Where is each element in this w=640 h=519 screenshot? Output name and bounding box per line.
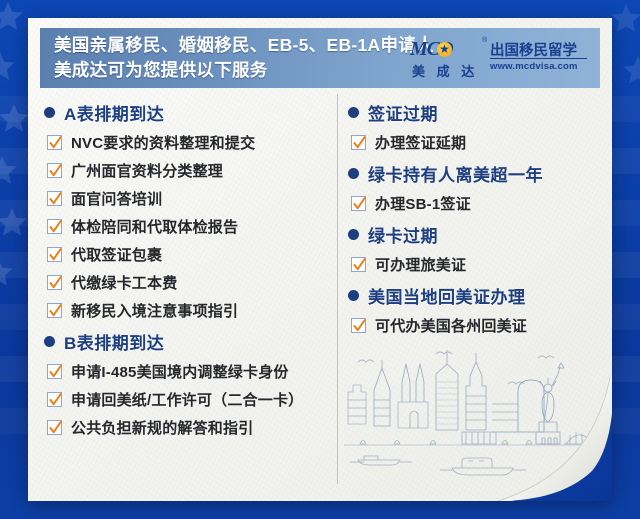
logo-tagline: 出国移民留学 <box>490 39 577 60</box>
service-item: 新移民入境注意事项指引 <box>47 300 336 321</box>
section-title: 绿卡持有人离美超一年 <box>368 161 543 186</box>
service-item-label: 公共负担新规的解答和指引 <box>71 417 253 438</box>
right-column: 签证过期办理签证延期绿卡持有人离美超一年办理SB-1签证绿卡过期可办理旅美证美国… <box>348 92 600 343</box>
checkbox-checked-icon <box>47 191 62 206</box>
banner-line-2: 美成达可为您提供以下服务 <box>54 58 434 83</box>
service-item-label: 办理SB-1签证 <box>375 193 471 214</box>
company-logo: MCD ★ ® 美 成 达 出国移民留学 www.mcdvisa.com <box>410 37 588 81</box>
service-item-label: 申请I-485美国境内调整绿卡身份 <box>71 361 289 382</box>
checkbox-checked-icon <box>351 135 366 150</box>
service-item-label: 广州面官资料分类整理 <box>71 160 223 181</box>
service-item-label: 面官问答培训 <box>71 188 162 209</box>
service-item-label: NVC要求的资料整理和提交 <box>71 132 255 153</box>
service-item: 可代办美国各州回美证 <box>351 315 600 336</box>
checkbox-checked-icon <box>47 275 62 290</box>
service-item: 可办理旅美证 <box>351 254 600 275</box>
banner-line-1: 美国亲属移民、婚姻移民、EB-5、EB-1A申请人 <box>54 35 434 55</box>
checkbox-checked-icon <box>351 196 366 211</box>
service-item: NVC要求的资料整理和提交 <box>47 132 336 153</box>
registered-mark: ® <box>482 37 487 44</box>
bullet-icon <box>44 107 55 118</box>
checkbox-checked-icon <box>47 364 62 379</box>
checkbox-checked-icon <box>351 257 366 272</box>
checkbox-checked-icon <box>47 420 62 435</box>
bullet-icon <box>44 336 55 347</box>
service-item-label: 代缴绿卡工本费 <box>71 272 177 293</box>
section-heading: B表排期到达 <box>44 329 336 354</box>
checkbox-checked-icon <box>47 247 62 262</box>
bullet-icon <box>348 107 359 118</box>
service-item-label: 代取签证包裹 <box>71 244 162 265</box>
section-heading: A表排期到达 <box>44 100 336 125</box>
service-item: 公共负担新规的解答和指引 <box>47 417 336 438</box>
logo-chinese-name: 美 成 达 <box>412 61 478 80</box>
section-title: A表排期到达 <box>64 100 164 125</box>
service-item: 申请I-485美国境内调整绿卡身份 <box>47 361 336 382</box>
column-divider <box>337 94 338 484</box>
checkbox-checked-icon <box>351 318 366 333</box>
left-column: A表排期到达NVC要求的资料整理和提交广州面官资料分类整理面官问答培训体检陪同和… <box>44 92 336 445</box>
star-glyph-icon: ★ <box>437 39 452 59</box>
section-heading: 绿卡过期 <box>348 222 600 247</box>
section-heading: 绿卡持有人离美超一年 <box>348 161 600 186</box>
service-item-label: 可代办美国各州回美证 <box>375 315 527 336</box>
service-item: 代取签证包裹 <box>47 244 336 265</box>
service-item-label: 可办理旅美证 <box>375 254 466 275</box>
service-item-label: 办理签证延期 <box>375 132 466 153</box>
banner-title: 美国亲属移民、婚姻移民、EB-5、EB-1A申请人 美成达可为您提供以下服务 <box>54 33 434 83</box>
checkbox-checked-icon <box>47 163 62 178</box>
service-item: 办理签证延期 <box>351 132 600 153</box>
logo-divider <box>490 58 587 59</box>
service-item-label: 申请回美纸/工作许可（二合一卡） <box>71 389 303 410</box>
section-title: B表排期到达 <box>64 329 164 354</box>
service-item: 办理SB-1签证 <box>351 193 600 214</box>
service-card: 美国亲属移民、婚姻移民、EB-5、EB-1A申请人 美成达可为您提供以下服务 M… <box>28 18 612 501</box>
service-item-label: 新移民入境注意事项指引 <box>71 300 238 321</box>
section-heading: 美国当地回美证办理 <box>348 283 600 308</box>
bullet-icon <box>348 229 359 240</box>
service-item: 申请回美纸/工作许可（二合一卡） <box>47 389 336 410</box>
page-curl-effect <box>464 375 612 501</box>
section-title: 美国当地回美证办理 <box>368 283 526 308</box>
service-item-label: 体检陪同和代取体检报告 <box>71 216 238 237</box>
bullet-icon <box>348 290 359 301</box>
checkbox-checked-icon <box>47 135 62 150</box>
service-item: 面官问答培训 <box>47 188 336 209</box>
section-title: 绿卡过期 <box>368 222 438 247</box>
service-item: 体检陪同和代取体检报告 <box>47 216 336 237</box>
section-title: 签证过期 <box>368 100 438 125</box>
checkbox-checked-icon <box>47 392 62 407</box>
service-item: 广州面官资料分类整理 <box>47 160 336 181</box>
section-heading: 签证过期 <box>348 100 600 125</box>
logo-url: www.mcdvisa.com <box>490 61 578 72</box>
checkbox-checked-icon <box>47 219 62 234</box>
checkbox-checked-icon <box>47 303 62 318</box>
bullet-icon <box>348 168 359 179</box>
header-banner: 美国亲属移民、婚姻移民、EB-5、EB-1A申请人 美成达可为您提供以下服务 M… <box>40 28 600 88</box>
service-item: 代缴绿卡工本费 <box>47 272 336 293</box>
